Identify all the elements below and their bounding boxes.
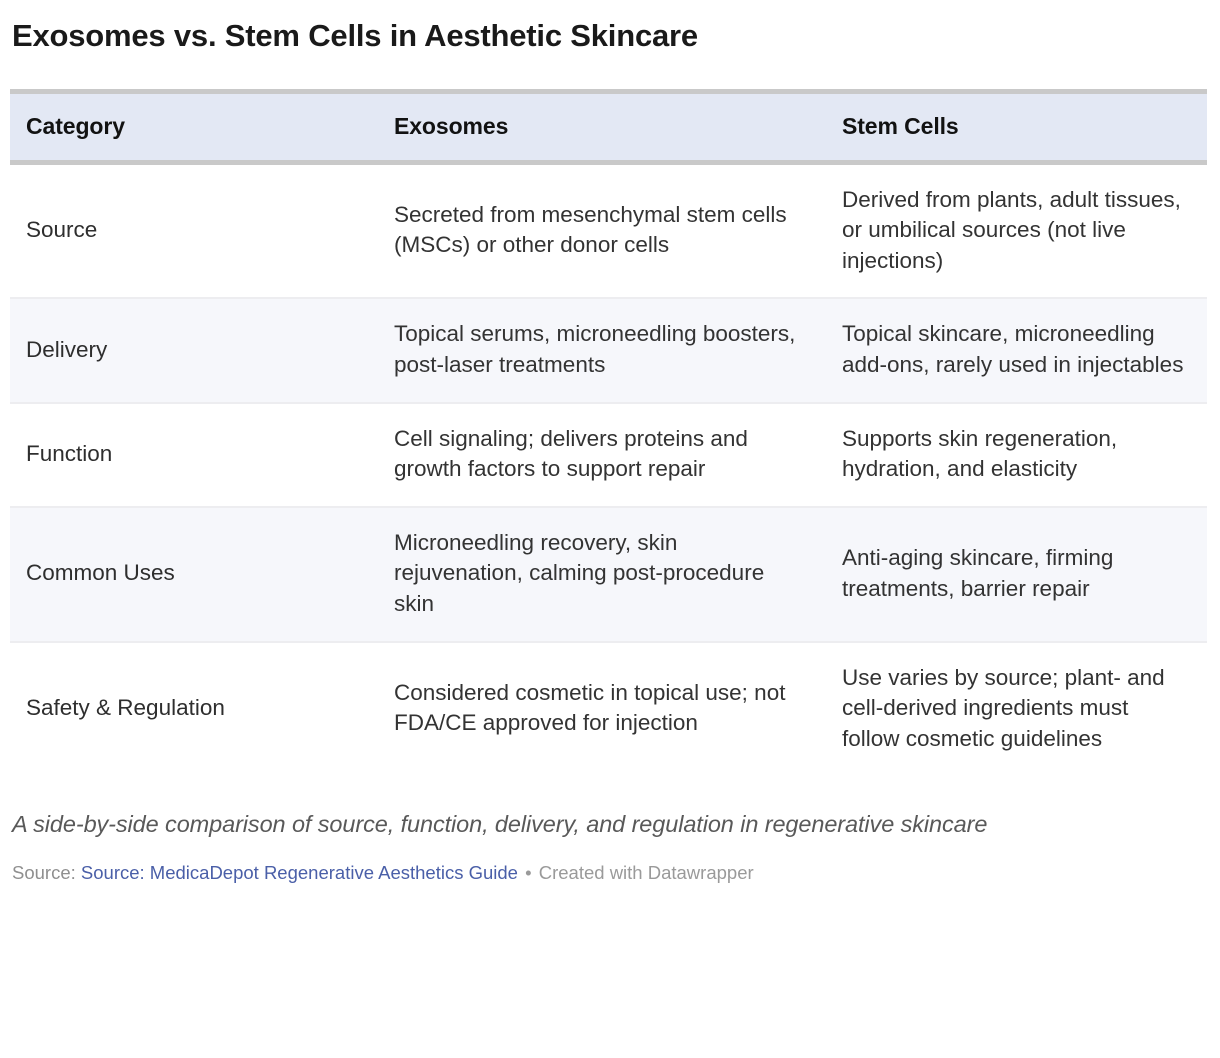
table-header-row: Category Exosomes Stem Cells [10, 91, 1207, 162]
table-row: Safety & Regulation Considered cosmetic … [10, 642, 1207, 776]
cell-stem-cells: Derived from plants, adult tissues, or u… [826, 162, 1207, 298]
source-label: Source: [12, 862, 76, 883]
cell-exosomes: Cell signaling; delivers proteins and gr… [378, 403, 826, 507]
cell-category: Safety & Regulation [10, 642, 378, 776]
source-link[interactable]: Source: MedicaDepot Regenerative Aesthet… [81, 862, 518, 883]
cell-exosomes: Considered cosmetic in topical use; not … [378, 642, 826, 776]
cell-category: Delivery [10, 298, 378, 402]
cell-stem-cells: Use varies by source; plant- and cell-de… [826, 642, 1207, 776]
footer-separator: • [523, 862, 533, 883]
table-row: Source Secreted from mesenchymal stem ce… [10, 162, 1207, 298]
figure-footer: Source: Source: MedicaDepot Regenerative… [12, 861, 1210, 885]
column-header-category[interactable]: Category [10, 91, 378, 162]
table-row: Common Uses Microneedling recovery, skin… [10, 507, 1207, 642]
comparison-table: Category Exosomes Stem Cells Source Secr… [10, 89, 1207, 776]
cell-category: Source [10, 162, 378, 298]
table-body: Source Secreted from mesenchymal stem ce… [10, 162, 1207, 775]
table-row: Delivery Topical serums, microneedling b… [10, 298, 1207, 402]
cell-category: Function [10, 403, 378, 507]
comparison-table-container: Category Exosomes Stem Cells Source Secr… [10, 89, 1210, 776]
page-title: Exosomes vs. Stem Cells in Aesthetic Ski… [10, 0, 1210, 55]
cell-stem-cells: Topical skincare, microneedling add-ons,… [826, 298, 1207, 402]
figure-caption: A side-by-side comparison of source, fun… [12, 809, 1142, 841]
datawrapper-credit[interactable]: Created with Datawrapper [539, 862, 754, 883]
cell-exosomes: Microneedling recovery, skin rejuvenatio… [378, 507, 826, 642]
cell-exosomes: Secreted from mesenchymal stem cells (MS… [378, 162, 826, 298]
column-header-stem-cells[interactable]: Stem Cells [826, 91, 1207, 162]
table-header: Category Exosomes Stem Cells [10, 91, 1207, 162]
cell-stem-cells: Supports skin regeneration, hydration, a… [826, 403, 1207, 507]
column-header-exosomes[interactable]: Exosomes [378, 91, 826, 162]
cell-category: Common Uses [10, 507, 378, 642]
table-row: Function Cell signaling; delivers protei… [10, 403, 1207, 507]
cell-exosomes: Topical serums, microneedling boosters, … [378, 298, 826, 402]
datawrapper-table-figure: Exosomes vs. Stem Cells in Aesthetic Ski… [0, 0, 1220, 1058]
cell-stem-cells: Anti-aging skincare, firming treatments,… [826, 507, 1207, 642]
